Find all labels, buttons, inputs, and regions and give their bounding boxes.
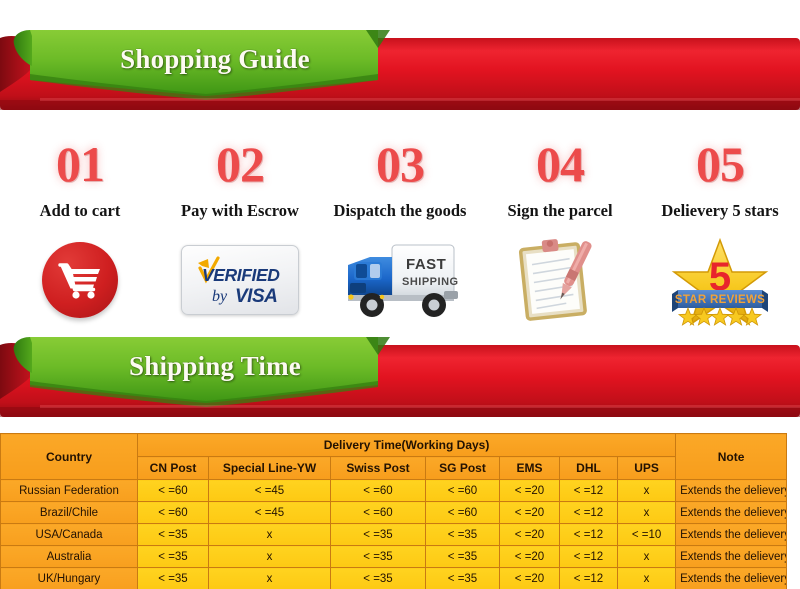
col-header-dhl: DHL bbox=[560, 457, 618, 480]
cell-dhl: < =12 bbox=[560, 524, 618, 546]
shopping-guide-infographic: Shopping Guide 01 Add to cart 02 bbox=[0, 0, 800, 589]
cell-country: USA/Canada bbox=[1, 524, 138, 546]
step-icon-container bbox=[508, 234, 612, 326]
step-number: 05 bbox=[696, 136, 744, 192]
cell-swiss-post: < =35 bbox=[331, 524, 426, 546]
cell-note: Extends the delievery time bbox=[676, 568, 787, 589]
cell-ems: < =20 bbox=[500, 568, 560, 589]
cell-ups: x bbox=[618, 568, 676, 589]
five-star-reviews-icon: 5 STAR REVIEWS bbox=[666, 234, 774, 326]
cell-swiss-post: < =60 bbox=[331, 480, 426, 502]
step-label: Add to cart bbox=[40, 201, 121, 221]
cell-ems: < =20 bbox=[500, 546, 560, 568]
cell-swiss-post: < =35 bbox=[331, 546, 426, 568]
table-body: Russian Federation < =60 < =45 < =60 < =… bbox=[1, 480, 787, 589]
cell-sg-post: < =35 bbox=[426, 568, 500, 589]
step-icon-container: FAST SHIPPING bbox=[336, 234, 464, 326]
step-icon-container: 5 STAR REVIEWS bbox=[666, 234, 774, 326]
cell-special-line-yw: x bbox=[209, 524, 331, 546]
cell-country: Brazil/Chile bbox=[1, 502, 138, 524]
svg-text:STAR REVIEWS: STAR REVIEWS bbox=[675, 294, 765, 306]
table-row: Brazil/Chile < =60 < =45 < =60 < =60 < =… bbox=[1, 502, 787, 524]
col-header-note: Note bbox=[676, 434, 787, 480]
cell-cn-post: < =35 bbox=[138, 546, 209, 568]
step-icon-container bbox=[42, 234, 118, 326]
step-label: Pay with Escrow bbox=[181, 201, 299, 221]
cell-dhl: < =12 bbox=[560, 546, 618, 568]
cell-special-line-yw: < =45 bbox=[209, 502, 331, 524]
step-label: Delievery 5 stars bbox=[661, 201, 778, 221]
step-number: 02 bbox=[216, 136, 264, 192]
step-04: 04 Sign the parcel bbox=[480, 136, 640, 326]
step-03: 03 Dispatch the goods bbox=[320, 136, 480, 326]
cell-swiss-post: < =35 bbox=[331, 568, 426, 589]
steps-row: 01 Add to cart 02 Pay with Escrow bbox=[0, 136, 800, 326]
cell-special-line-yw: < =45 bbox=[209, 480, 331, 502]
cell-country: Australia bbox=[1, 546, 138, 568]
col-header-ups: UPS bbox=[618, 457, 676, 480]
table-row: Australia < =35 x < =35 < =35 < =20 < =1… bbox=[1, 546, 787, 568]
shopping-cart-icon bbox=[42, 242, 118, 318]
cell-ups: x bbox=[618, 502, 676, 524]
shipping-time-table: Country Delivery Time(Working Days) Note… bbox=[0, 433, 787, 589]
cell-dhl: < =12 bbox=[560, 480, 618, 502]
verified-by-visa-icon: VERIFIED by VISA bbox=[181, 245, 299, 315]
cell-cn-post: < =60 bbox=[138, 502, 209, 524]
cart-glyph bbox=[57, 260, 103, 300]
cell-ups: x bbox=[618, 546, 676, 568]
step-02: 02 Pay with Escrow VERIFIED by VISA bbox=[160, 136, 320, 326]
banner-title-shopping-guide: Shopping Guide bbox=[60, 22, 370, 96]
cell-ems: < =20 bbox=[500, 480, 560, 502]
cell-swiss-post: < =60 bbox=[331, 502, 426, 524]
svg-text:by: by bbox=[212, 288, 228, 305]
banner-title-shipping-time: Shipping Time bbox=[60, 329, 370, 403]
svg-text:VERIFIED: VERIFIED bbox=[202, 265, 280, 285]
cell-ups: < =10 bbox=[618, 524, 676, 546]
table-row: Russian Federation < =60 < =45 < =60 < =… bbox=[1, 480, 787, 502]
table-header: Country Delivery Time(Working Days) Note… bbox=[1, 434, 787, 480]
fast-shipping-truck-icon: FAST SHIPPING bbox=[336, 235, 464, 325]
svg-text:VISA: VISA bbox=[235, 286, 277, 307]
svg-text:SHIPPING: SHIPPING bbox=[402, 276, 459, 288]
cell-sg-post: < =60 bbox=[426, 502, 500, 524]
clipboard-pen-icon bbox=[508, 234, 612, 326]
cell-sg-post: < =60 bbox=[426, 480, 500, 502]
col-header-swiss-post: Swiss Post bbox=[331, 457, 426, 480]
cell-note: Extends the delievery time bbox=[676, 502, 787, 524]
shipping-time-banner: Shipping Time bbox=[0, 329, 800, 427]
cell-note: Extends the delievery time bbox=[676, 524, 787, 546]
cell-dhl: < =12 bbox=[560, 568, 618, 589]
col-header-delivery-time-group: Delivery Time(Working Days) bbox=[138, 434, 676, 457]
table-row: UK/Hungary < =35 x < =35 < =35 < =20 < =… bbox=[1, 568, 787, 589]
cell-cn-post: < =35 bbox=[138, 568, 209, 589]
cell-country: UK/Hungary bbox=[1, 568, 138, 589]
step-label: Dispatch the goods bbox=[334, 201, 467, 221]
cell-note: Extends the delievery time bbox=[676, 546, 787, 568]
step-01: 01 Add to cart bbox=[0, 136, 160, 326]
step-05: 05 Delievery 5 stars bbox=[640, 136, 800, 326]
cell-ems: < =20 bbox=[500, 524, 560, 546]
col-header-special-line-yw: Special Line-YW bbox=[209, 457, 331, 480]
step-number: 04 bbox=[536, 136, 584, 192]
step-icon-container: VERIFIED by VISA bbox=[181, 234, 299, 326]
cell-dhl: < =12 bbox=[560, 502, 618, 524]
col-header-country: Country bbox=[1, 434, 138, 480]
visa-glyph: VERIFIED by VISA bbox=[182, 246, 298, 314]
step-label: Sign the parcel bbox=[507, 201, 612, 221]
cell-cn-post: < =35 bbox=[138, 524, 209, 546]
shipping-time-table-container: Country Delivery Time(Working Days) Note… bbox=[0, 433, 800, 589]
cell-note: Extends the delievery time bbox=[676, 480, 787, 502]
cell-country: Russian Federation bbox=[1, 480, 138, 502]
cell-ems: < =20 bbox=[500, 502, 560, 524]
cell-special-line-yw: x bbox=[209, 568, 331, 589]
table-row: USA/Canada < =35 x < =35 < =35 < =20 < =… bbox=[1, 524, 787, 546]
col-header-sg-post: SG Post bbox=[426, 457, 500, 480]
col-header-ems: EMS bbox=[500, 457, 560, 480]
cell-cn-post: < =60 bbox=[138, 480, 209, 502]
cell-sg-post: < =35 bbox=[426, 524, 500, 546]
col-header-cn-post: CN Post bbox=[138, 457, 209, 480]
step-number: 01 bbox=[56, 136, 104, 192]
table-header-row-1: Country Delivery Time(Working Days) Note bbox=[1, 434, 787, 457]
cell-ups: x bbox=[618, 480, 676, 502]
cell-sg-post: < =35 bbox=[426, 546, 500, 568]
shopping-guide-banner: Shopping Guide bbox=[0, 22, 800, 120]
svg-text:FAST: FAST bbox=[406, 256, 446, 273]
cell-special-line-yw: x bbox=[209, 546, 331, 568]
step-number: 03 bbox=[376, 136, 424, 192]
